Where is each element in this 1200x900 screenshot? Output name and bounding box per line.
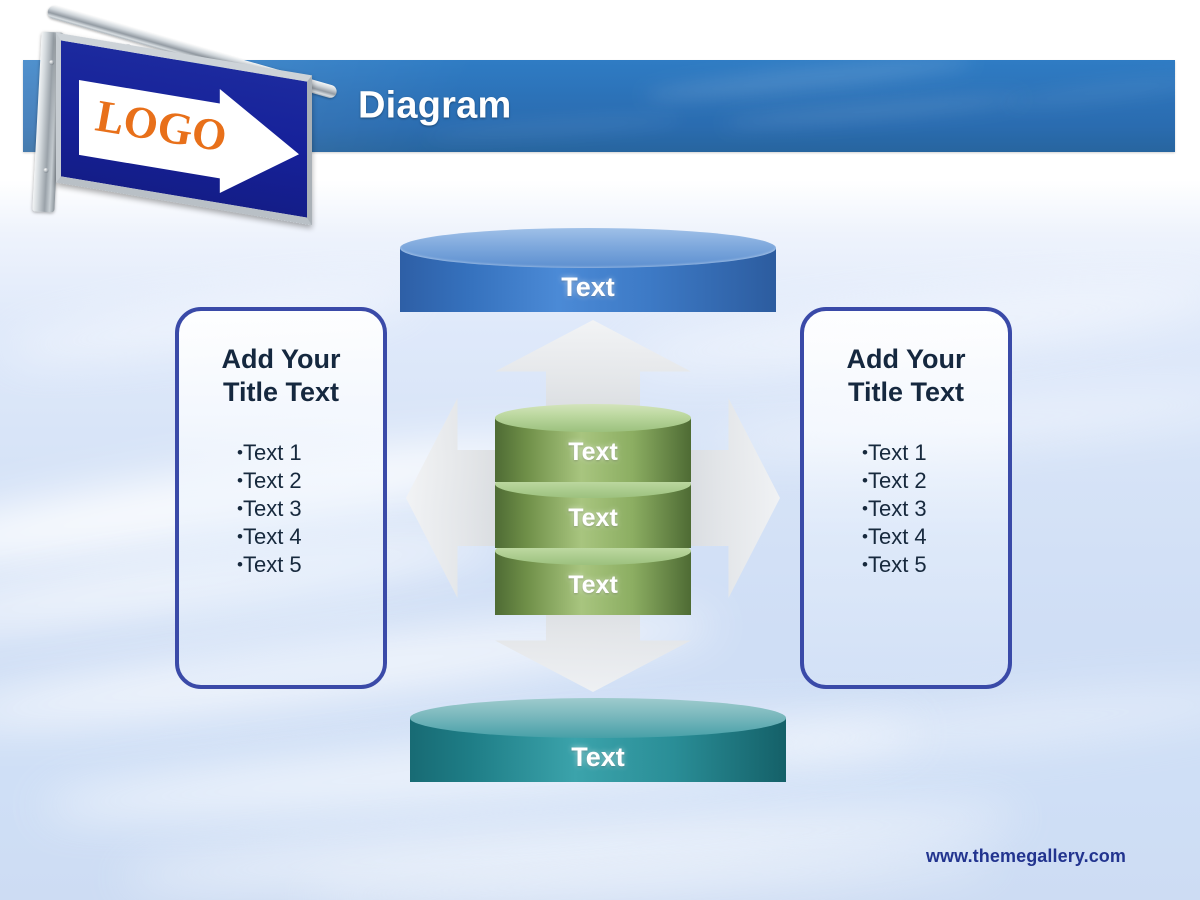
panel-title-line-2: Title Text [804,376,1008,409]
list-item-label: Text 4 [243,524,302,549]
text-panel-left[interactable]: Add Your Title Text •Text 1 •Text 2 •Tex… [175,307,387,689]
sign-board: LOGO [56,33,312,226]
list-item: •Text 1 [862,439,1008,467]
list-item-label: Text 2 [243,468,302,493]
diagram-node-center-1[interactable]: Text [495,404,691,482]
footer-url[interactable]: www.themegallery.com [926,846,1126,867]
list-item-label: Text 1 [868,440,927,465]
text-panel-right[interactable]: Add Your Title Text •Text 1 •Text 2 •Tex… [800,307,1012,689]
list-item-label: Text 1 [243,440,302,465]
text-panel-right-list: •Text 1 •Text 2 •Text 3 •Text 4 •Text 5 [804,439,1008,579]
page-title: Diagram [358,85,511,128]
screw-icon [43,168,48,173]
cylinder-top-cap [410,698,786,738]
screw-icon [49,60,54,65]
list-item-label: Text 4 [868,524,927,549]
list-item: •Text 4 [237,523,383,551]
list-item-label: Text 3 [243,496,302,521]
list-item: •Text 4 [862,523,1008,551]
text-panel-right-title: Add Your Title Text [804,343,1008,409]
list-item: •Text 3 [237,495,383,523]
list-item-label: Text 3 [868,496,927,521]
banner-cloud-streak [723,91,1023,131]
list-item: •Text 3 [862,495,1008,523]
logo-sign[interactable]: LOGO [20,10,330,215]
diagram-node-top-label: Text [400,272,776,303]
diagram-node-center-2-label: Text [495,504,691,533]
text-panel-left-list: •Text 1 •Text 2 •Text 3 •Text 4 •Text 5 [179,439,383,579]
diagram-node-center-3-label: Text [495,571,691,600]
list-item-label: Text 5 [868,552,927,577]
list-item: •Text 5 [237,551,383,579]
panel-title-line-1: Add Your [179,343,383,376]
diagram-node-bottom[interactable]: Text [410,698,786,782]
list-item: •Text 2 [237,467,383,495]
diagram-node-bottom-label: Text [410,742,786,773]
panel-title-line-2: Title Text [179,376,383,409]
banner-cloud-streak [1003,72,1200,112]
slide-canvas: Diagram LOGO Text Text [0,0,1200,900]
diagram-node-top[interactable]: Text [400,228,776,312]
list-item-label: Text 5 [243,552,302,577]
list-item: •Text 1 [237,439,383,467]
diagram-node-center-3[interactable]: Text [495,537,691,615]
banner-cloud-streak [643,51,973,107]
panel-title-line-1: Add Your [804,343,1008,376]
text-panel-left-title: Add Your Title Text [179,343,383,409]
cylinder-top-cap [400,228,776,268]
list-item: •Text 2 [862,467,1008,495]
list-item: •Text 5 [862,551,1008,579]
diagram-node-center-1-label: Text [495,438,691,467]
list-item-label: Text 2 [868,468,927,493]
cylinder-top-cap [495,404,691,432]
